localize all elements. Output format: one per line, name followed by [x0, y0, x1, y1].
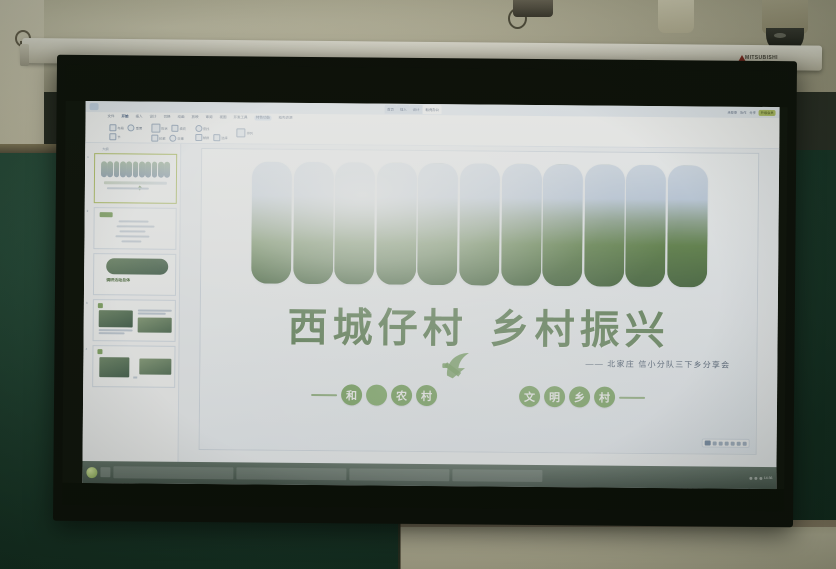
ribbon-cmd-reset[interactable]: 重置	[128, 124, 142, 131]
thumb2-tag	[100, 212, 113, 217]
ribbon-group-edit: 查找 替换 选择	[195, 124, 228, 140]
slide-thumb-4[interactable]: 4	[86, 345, 175, 388]
layout-icon	[109, 124, 116, 131]
slide-subtitle[interactable]: —— 北家庄 信小分队三下乡分享会	[585, 358, 730, 370]
presentation-app-window: 首页 插入 设计 稻壳办公 未登录 协作 分享 升级会员 文件 开始	[82, 101, 779, 489]
upgrade-member-button[interactable]: 升级会员	[759, 109, 776, 115]
ribbon-tab-transitions[interactable]: 切换	[163, 115, 170, 120]
slide-title-right: 乡村振兴	[489, 307, 669, 355]
roller-end-cap	[20, 44, 29, 66]
ceiling-fixture-left	[513, 0, 553, 17]
search-icon	[195, 124, 202, 131]
ribbon-tab-developer[interactable]: 开发工具	[233, 115, 247, 120]
reset-icon	[128, 124, 135, 131]
ribbon-cmd-outline[interactable]: 轮廓	[151, 134, 165, 141]
badge-left-0: 和	[341, 384, 362, 405]
tray-icon-3[interactable]	[759, 476, 762, 479]
slide-thumb-2-image[interactable]	[93, 207, 176, 250]
ribbon-cmd-find[interactable]: 查找	[195, 124, 209, 131]
select-icon	[213, 134, 220, 141]
badge-dash-left	[311, 394, 337, 396]
slide-thumb-1-image[interactable]	[94, 153, 177, 204]
thumb-strip	[101, 161, 170, 178]
section-icon	[109, 133, 116, 140]
slide-thumb-4-image[interactable]	[92, 345, 175, 388]
slide-thumb-3[interactable]: 3	[87, 299, 176, 342]
ribbon-cmd-shape[interactable]: 形状	[151, 123, 167, 132]
arrange-icon	[237, 128, 246, 137]
effect-icon	[169, 134, 176, 141]
slide-thumb-2b-image[interactable]: 调研活动总体	[93, 253, 176, 296]
taskbar-window-1[interactable]	[113, 466, 233, 479]
ribbon-group-arrange: 排列	[237, 128, 253, 137]
ribbon-tab-design[interactable]: 设计	[149, 115, 156, 120]
projection-screen-frame: 首页 插入 设计 稻壳办公 未登录 协作 分享 升级会员 文件 开始	[53, 55, 797, 527]
camera-glint	[774, 33, 786, 38]
ribbon-tab-view[interactable]: 视图	[219, 115, 226, 120]
titlebar-tab-1[interactable]: 插入	[397, 105, 410, 114]
floating-toolbar-handle-icon[interactable]	[705, 440, 711, 445]
thumb4-tag	[97, 349, 102, 354]
titlebar-tab-2[interactable]: 设计	[410, 105, 423, 114]
start-orb-icon[interactable]	[86, 467, 97, 478]
badge-dash-right	[619, 396, 645, 398]
slide-thumb-1[interactable]: 1	[88, 153, 177, 204]
floating-tool-4-icon[interactable]	[731, 441, 735, 445]
ribbon-tab-home[interactable]: 开始	[121, 114, 128, 119]
outline-icon	[151, 134, 158, 141]
ribbon-tab-slideshow[interactable]: 放映	[191, 115, 198, 120]
titlebar-action-collab[interactable]: 协作	[740, 110, 746, 115]
ribbon-tab-review[interactable]: 审阅	[205, 115, 212, 120]
badge-right-2: 乡	[569, 386, 590, 407]
slide-number-2: 2	[87, 209, 89, 213]
thumb3-tag	[98, 303, 103, 308]
slide-number-4: 4	[85, 347, 87, 351]
slide-2-caption: 调研活动总体	[106, 277, 130, 283]
tray-icon-1[interactable]	[749, 476, 752, 479]
taskbar-window-2[interactable]	[236, 467, 346, 480]
titlebar-action-share[interactable]: 分享	[749, 110, 755, 115]
taskbar-tray[interactable]: 14:36	[749, 476, 773, 480]
lower-right-wall	[400, 520, 836, 569]
left-wall-panel	[0, 0, 44, 150]
tray-clock[interactable]: 14:36	[764, 476, 773, 480]
badge-left-3: 村	[416, 385, 437, 406]
badge-left-1	[366, 384, 387, 405]
ribbon-tab-insert[interactable]: 插入	[135, 114, 142, 119]
badge-right-1: 明	[544, 386, 565, 407]
badge-right-0: 文	[519, 386, 540, 407]
slide-thumb-2[interactable]: 2	[87, 207, 176, 250]
fill-bucket-icon	[172, 124, 179, 131]
app-workspace: 大纲 1	[82, 143, 779, 472]
slide-thumb-2b[interactable]: 调研活动总体	[87, 253, 176, 296]
projection-screen-surface: 首页 插入 设计 稻壳办公 未登录 协作 分享 升级会员 文件 开始	[62, 65, 788, 511]
slide-canvas-area[interactable]: 西城仔村乡村振兴 —— 北家庄 信小分队三下乡分享会 和	[178, 144, 779, 472]
ribbon-cmd-select[interactable]: 选择	[213, 134, 227, 141]
ribbon-cmd-layout[interactable]: 布局	[109, 124, 123, 131]
titlebar-action-login[interactable]: 未登录	[727, 110, 737, 115]
titlebar-tab-active[interactable]: 稻壳办公	[422, 105, 442, 114]
floating-tool-5-icon[interactable]	[737, 441, 741, 445]
tray-icon-2[interactable]	[754, 476, 757, 479]
slide-main-title[interactable]: 西城仔村乡村振兴	[200, 294, 756, 357]
badge-right-3: 村	[594, 386, 615, 407]
thumb-title-bar	[104, 181, 167, 185]
ribbon-cmd-arrange[interactable]: 排列	[237, 128, 253, 137]
floating-tool-2-icon[interactable]	[719, 441, 723, 445]
taskbar-window-4[interactable]	[452, 469, 542, 482]
taskbar-app-icon-1[interactable]	[100, 467, 110, 477]
slide-navigator-header: 大纲	[88, 146, 177, 152]
floating-tool-6-icon[interactable]	[743, 441, 747, 445]
ribbon-tab-features[interactable]: 特色功能	[254, 116, 271, 121]
slide-navigator-panel[interactable]: 大纲 1	[82, 143, 181, 467]
slide-number-1: 1	[87, 155, 89, 159]
ribbon-cmd-effect[interactable]: 效果	[169, 134, 183, 141]
floating-tool-1-icon[interactable]	[713, 441, 717, 445]
shape-icon	[151, 123, 160, 132]
ribbon-cmd-section[interactable]: 节	[109, 133, 120, 140]
wall-seam	[398, 520, 401, 569]
classroom-scene: MITSUBISHI 首页 插入 设计 稻壳办公 未登录 协作 分	[0, 0, 836, 569]
ribbon-tab-animations[interactable]: 动画	[177, 115, 184, 120]
save-icon[interactable]	[90, 103, 99, 110]
ribbon-tab-resources[interactable]: 稻壳资源	[278, 116, 292, 121]
ribbon-group-slide: 布局 重置 节	[109, 124, 142, 140]
taskbar-window-3[interactable]	[349, 468, 449, 481]
thumb-subtitle-bar	[107, 187, 149, 189]
floating-tool-3-icon[interactable]	[725, 441, 729, 445]
cpc-hammer-sickle-emblem-icon	[440, 347, 478, 381]
titlebar-tab-0[interactable]: 首页	[384, 105, 397, 114]
badge-left-2: 农	[391, 385, 412, 406]
ribbon-group-shape: 形状 填充 轮廓	[151, 123, 186, 141]
slide-title-left: 西城仔村	[287, 305, 467, 353]
slide-floating-toolbar[interactable]	[702, 438, 750, 447]
ribbon-cmd-fill[interactable]: 填充	[172, 124, 186, 131]
ribbon-cmd-replace[interactable]: 替换	[195, 133, 209, 140]
ceiling-fixture-right	[658, 0, 694, 33]
slide-thumb-3-image[interactable]	[93, 299, 176, 342]
ribbon-tab-file[interactable]: 文件	[107, 114, 114, 119]
slide-image-strip[interactable]	[251, 161, 708, 287]
replace-icon	[195, 133, 202, 140]
current-slide[interactable]: 西城仔村乡村振兴 —— 北家庄 信小分队三下乡分享会 和	[199, 148, 760, 455]
slide-number-3: 3	[86, 301, 88, 305]
